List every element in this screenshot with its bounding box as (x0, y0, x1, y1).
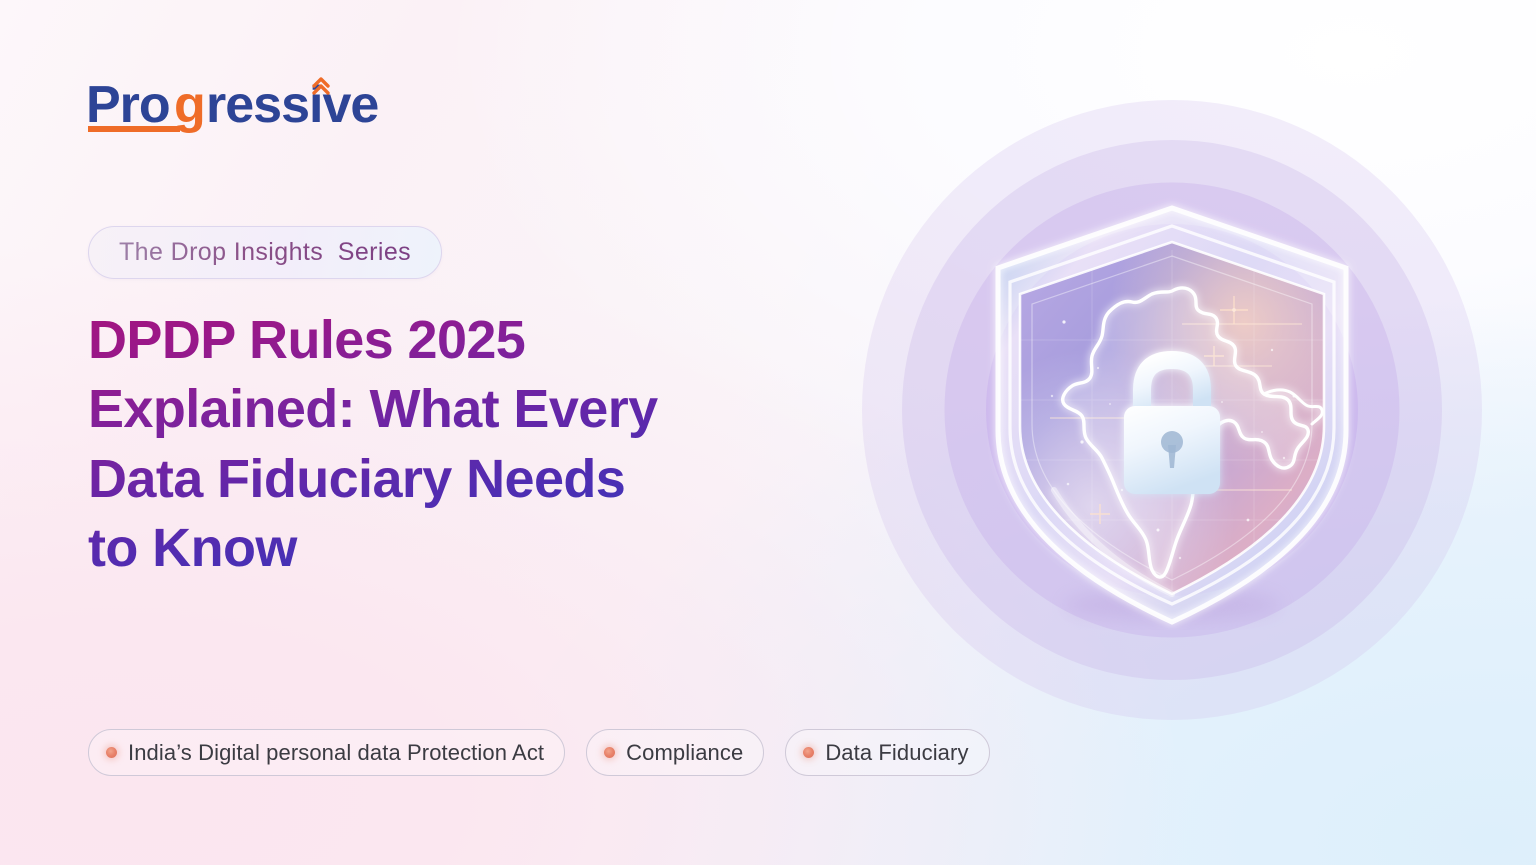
logo-underline (88, 126, 180, 132)
bullet-dot-icon (604, 747, 615, 758)
page-title: DPDP Rules 2025 Explained: What Every Da… (88, 306, 788, 584)
logo-text-pro: Pro (86, 76, 170, 134)
logo-text-g: g (174, 76, 205, 134)
tag-chip-label: Data Fiduciary (825, 740, 968, 766)
series-badge: The Drop Insights Series (88, 226, 442, 279)
tag-list: India’s Digital personal data Protection… (88, 729, 990, 776)
tag-chip-label: Compliance (626, 740, 743, 766)
progressive-logo[interactable]: Pro g ressive (86, 76, 396, 138)
tag-chip-label: India’s Digital personal data Protection… (128, 740, 544, 766)
tag-chip-data-fiduciary[interactable]: Data Fiduciary (785, 729, 989, 776)
tag-chip-dpdp-act[interactable]: India’s Digital personal data Protection… (88, 729, 565, 776)
bullet-dot-icon (803, 747, 814, 758)
hero-artwork (858, 96, 1486, 724)
series-badge-label: The Drop Insights Series (119, 238, 411, 267)
logo-text-ressive: ressive (206, 76, 378, 134)
banner-canvas: Pro g ressive The Drop Insights Series D… (0, 0, 1536, 865)
progressive-logo-mark: Pro g ressive (86, 76, 396, 138)
tag-chip-compliance[interactable]: Compliance (586, 729, 764, 776)
bullet-dot-icon (106, 747, 117, 758)
shield-icon (972, 190, 1372, 630)
